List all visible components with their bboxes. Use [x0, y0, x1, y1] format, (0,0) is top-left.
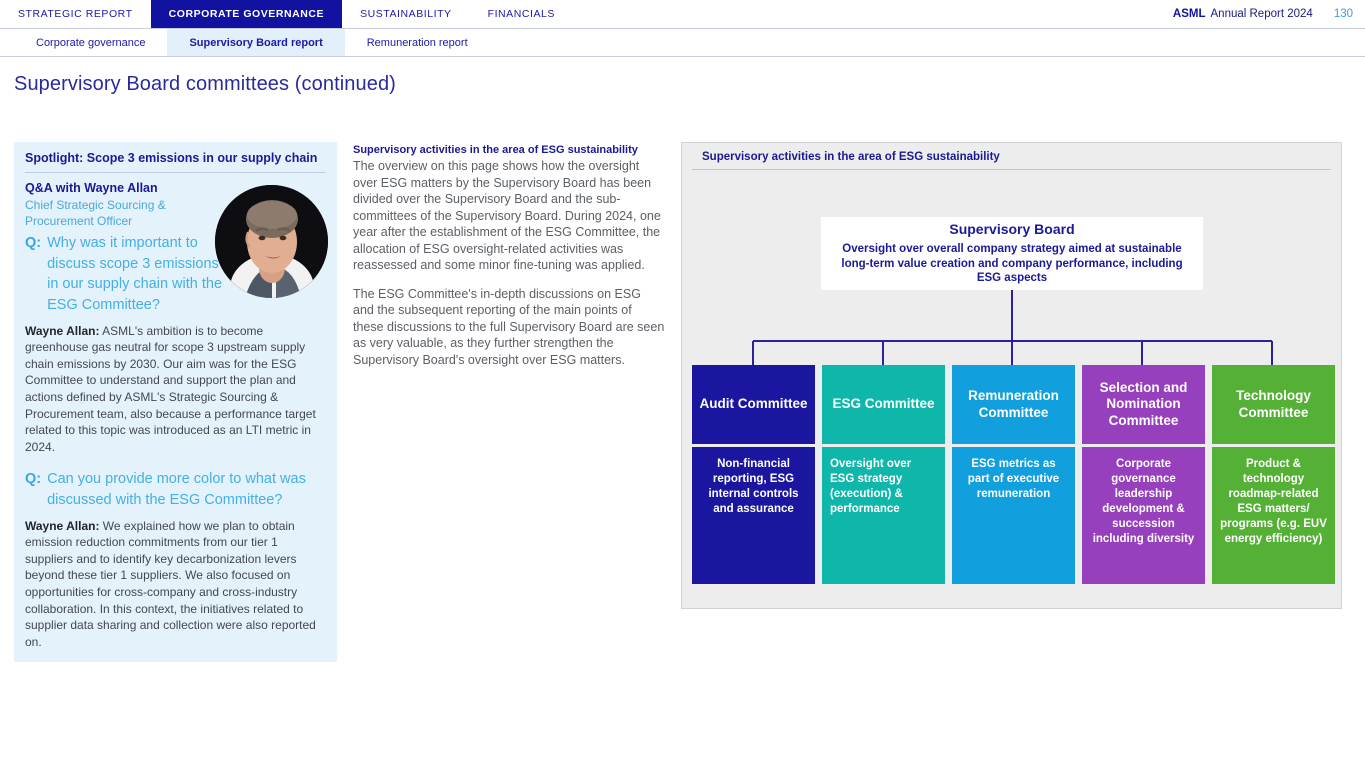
subnav-tab-remuneration-report[interactable]: Remuneration report: [345, 29, 490, 56]
page-title: Supervisory Board committees (continued): [0, 57, 1365, 96]
answer-2-speaker: Wayne Allan:: [25, 519, 99, 533]
answer-2-text: We explained how we plan to obtain emiss…: [25, 519, 316, 649]
report-identifier: ASML Annual Report 2024 130: [1173, 0, 1353, 28]
committee-column-remuneration: Remuneration Committee ESG metrics as pa…: [952, 365, 1075, 584]
subnav-tab-corporate-governance[interactable]: Corporate governance: [14, 29, 167, 56]
middle-paragraph-2: The ESG Committee's in-depth discussions…: [353, 286, 665, 369]
sub-navigation-bar: Corporate governance Supervisory Board r…: [0, 29, 1365, 57]
nav-tab-corporate-governance[interactable]: CORPORATE GOVERNANCE: [151, 0, 342, 28]
middle-text-column: Supervisory activities in the area of ES…: [337, 142, 665, 380]
committee-column-selection-nomination: Selection and Nomination Committee Corpo…: [1082, 365, 1205, 584]
committee-header-esg: ESG Committee: [822, 365, 945, 444]
qa-person-role: Chief Strategic Sourcing & Procurement O…: [25, 197, 220, 229]
question-1: Q: Why was it important to discuss scope…: [25, 233, 230, 315]
committee-description-technology: Product & technology roadmap-related ESG…: [1220, 457, 1327, 547]
question-2: Q: Can you provide more color to what wa…: [25, 469, 326, 510]
committee-name-technology: Technology Committee: [1217, 388, 1330, 421]
question-2-text: Can you provide more color to what was d…: [47, 469, 326, 510]
portrait-photo: [215, 185, 328, 298]
middle-paragraph-1: The overview on this page shows how the …: [353, 158, 665, 274]
esg-oversight-diagram-panel: Supervisory activities in the area of ES…: [681, 142, 1342, 609]
answer-1-text: ASML's ambition is to become greenhouse …: [25, 324, 316, 454]
main-navigation-bar: STRATEGIC REPORT CORPORATE GOVERNANCE SU…: [0, 0, 1365, 29]
committee-name-esg: ESG Committee: [832, 396, 934, 412]
nav-tab-financials[interactable]: FINANCIALS: [470, 0, 573, 28]
committee-name-selection-nomination: Selection and Nomination Committee: [1087, 380, 1200, 429]
nav-tab-sustainability[interactable]: SUSTAINABILITY: [342, 0, 470, 28]
committee-header-technology: Technology Committee: [1212, 365, 1335, 444]
committee-body-remuneration: ESG metrics as part of executive remuner…: [952, 447, 1075, 584]
committee-body-technology: Product & technology roadmap-related ESG…: [1212, 447, 1335, 584]
avatar: [215, 185, 328, 298]
spotlight-title: Spotlight: Scope 3 emissions in our supp…: [25, 151, 326, 173]
subnav-tab-supervisory-board-report[interactable]: Supervisory Board report: [167, 29, 344, 56]
committee-header-audit: Audit Committee: [692, 365, 815, 444]
committee-header-selection-nomination: Selection and Nomination Committee: [1082, 365, 1205, 444]
committee-description-audit: Non-financial reporting, ESG internal co…: [700, 457, 807, 517]
report-title: Annual Report 2024: [1211, 8, 1313, 20]
committee-column-technology: Technology Committee Product & technolog…: [1212, 365, 1335, 584]
committee-body-audit: Non-financial reporting, ESG internal co…: [692, 447, 815, 584]
middle-column-title: Supervisory activities in the area of ES…: [353, 144, 665, 156]
committee-body-esg: Oversight over ESG strategy (execution) …: [822, 447, 945, 584]
spotlight-panel: Spotlight: Scope 3 emissions in our supp…: [14, 142, 337, 662]
answer-2: Wayne Allan: We explained how we plan to…: [25, 518, 326, 651]
committee-header-remuneration: Remuneration Committee: [952, 365, 1075, 444]
committee-description-selection-nomination: Corporate governance leadership developm…: [1090, 457, 1197, 547]
answer-1: Wayne Allan: ASML's ambition is to becom…: [25, 323, 326, 456]
asml-logo-text: ASML: [1173, 8, 1206, 20]
committee-name-audit: Audit Committee: [700, 396, 808, 412]
question-1-text: Why was it important to discuss scope 3 …: [47, 233, 230, 315]
question-marker: Q:: [25, 469, 41, 510]
page-content: Spotlight: Scope 3 emissions in our supp…: [0, 142, 1365, 662]
committee-column-esg: ESG Committee Oversight over ESG strateg…: [822, 365, 945, 584]
answer-1-speaker: Wayne Allan:: [25, 324, 99, 338]
committee-description-esg: Oversight over ESG strategy (execution) …: [830, 457, 937, 517]
committee-name-remuneration: Remuneration Committee: [957, 388, 1070, 421]
committee-columns: Audit Committee Non-financial reporting,…: [692, 365, 1332, 584]
committee-description-remuneration: ESG metrics as part of executive remuner…: [960, 457, 1067, 502]
nav-tab-strategic-report[interactable]: STRATEGIC REPORT: [0, 0, 151, 28]
question-marker: Q:: [25, 233, 41, 315]
committee-body-selection-nomination: Corporate governance leadership developm…: [1082, 447, 1205, 584]
qa-header: Q&A with Wayne Allan Chief Strategic Sou…: [25, 180, 326, 316]
page-number: 130: [1334, 8, 1353, 20]
committee-column-audit: Audit Committee Non-financial reporting,…: [692, 365, 815, 584]
